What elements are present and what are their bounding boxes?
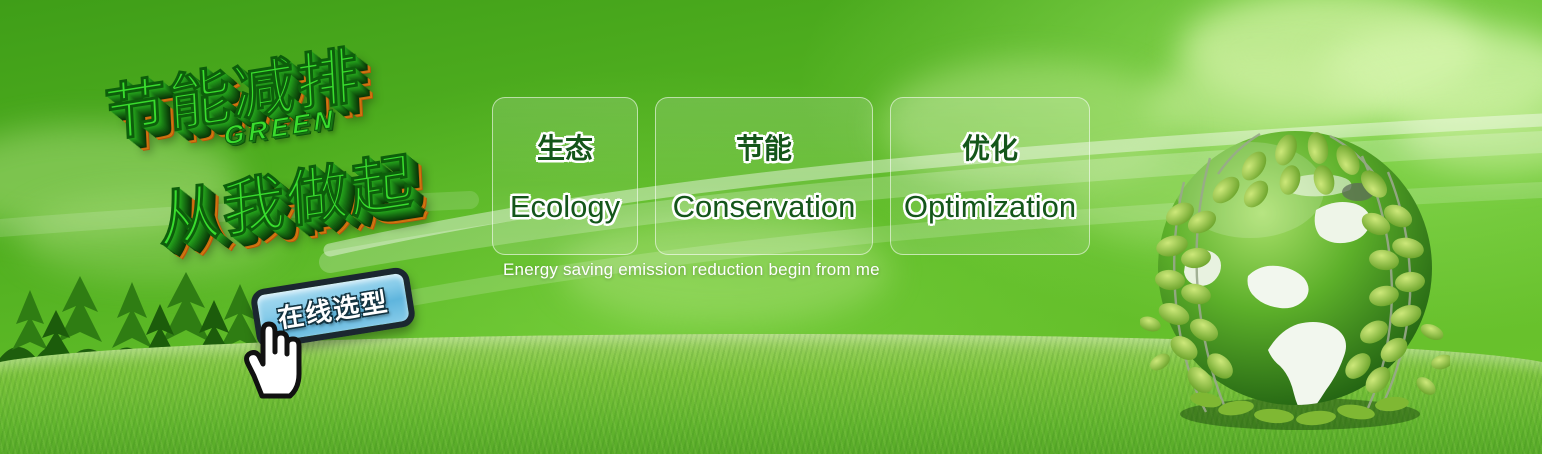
cloud-shape <box>1320 25 1542 125</box>
headline-line-2: 从我做起 <box>156 130 416 260</box>
feature-card-optimization[interactable]: 优化 Optimization <box>890 97 1090 255</box>
feature-card-conservation[interactable]: 节能 Conservation <box>655 97 873 255</box>
feature-card-title-cn: 优化 <box>962 127 1018 167</box>
leafy-globe-icon <box>1140 118 1450 430</box>
green-energy-banner: 节能减排 GREEN 从我做起 在线选型 生态 Ecology 节能 Conse… <box>0 0 1542 454</box>
feature-card-title-en: Optimization <box>904 189 1076 225</box>
feature-card-title-cn: 节能 <box>736 127 792 167</box>
banner-subtitle: Energy saving emission reduction begin f… <box>503 260 880 280</box>
feature-cards: 生态 Ecology 节能 Conservation 优化 Optimizati… <box>492 97 1090 255</box>
feature-card-title-cn: 生态 <box>537 127 593 167</box>
feature-card-title-en: Conservation <box>673 189 856 225</box>
feature-card-ecology[interactable]: 生态 Ecology <box>492 97 638 255</box>
headline-3d: 节能减排 GREEN 从我做起 <box>96 38 486 263</box>
feature-card-title-en: Ecology <box>510 189 620 225</box>
hand-pointer-icon <box>238 318 306 400</box>
cloud-shape <box>1180 0 1480 110</box>
